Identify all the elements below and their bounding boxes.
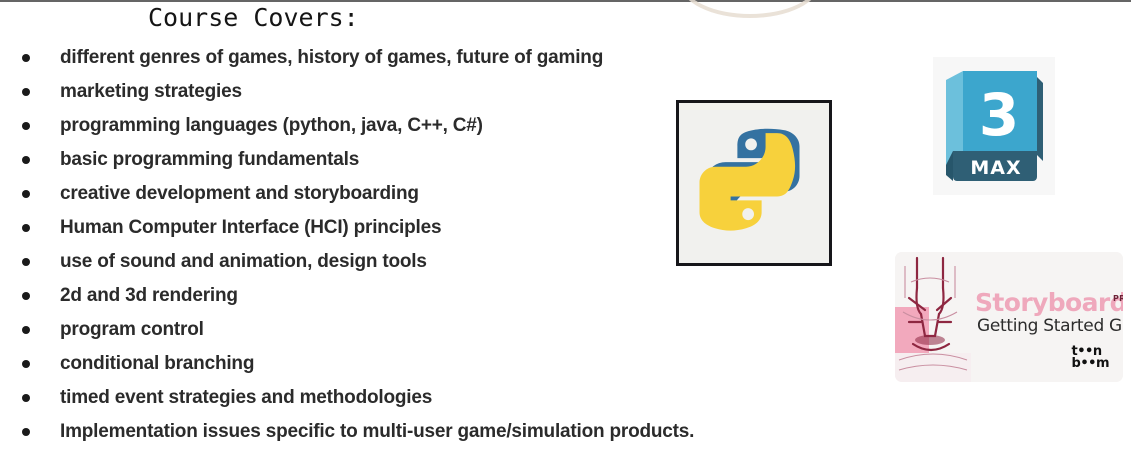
list-item-label: program control	[60, 319, 204, 340]
list-item-label: Human Computer Interface (HCI) principle…	[60, 217, 441, 238]
bullet-dot-icon	[22, 88, 30, 96]
list-item-label: 2d and 3d rendering	[60, 285, 238, 306]
bullet-dot-icon	[22, 122, 30, 130]
bullet-dot-icon	[22, 54, 30, 62]
bullet-dot-icon	[22, 394, 30, 402]
bullet-dot-icon	[22, 428, 30, 436]
toon-boom-line2: b••m	[1072, 358, 1109, 370]
list-item: conditional branching	[0, 347, 860, 381]
python-logo-image	[676, 100, 832, 266]
list-item-label: basic programming fundamentals	[60, 149, 359, 170]
max-digit-label: 3	[979, 81, 1019, 149]
slide-canvas: Course Covers: different genres of games…	[0, 0, 1131, 451]
autodesk-3ds-max-logo-image: 3 MAX	[933, 57, 1055, 195]
bullet-dot-icon	[22, 292, 30, 300]
list-item: 2d and 3d rendering	[0, 279, 860, 313]
top-divider-rule	[0, 0, 1131, 2]
page-title: Course Covers:	[148, 3, 359, 32]
storyboard-pro-guide-image: Storyboard PRO 22 Getting Started Guide …	[895, 252, 1123, 382]
bullet-dot-icon	[22, 360, 30, 368]
list-item: Implementation issues specific to multi-…	[0, 415, 860, 449]
toon-boom-logo: t••n b••m	[1072, 346, 1109, 370]
list-item: different genres of games, history of ga…	[0, 41, 860, 75]
list-item-label: use of sound and animation, design tools	[60, 251, 427, 272]
list-item-label: marketing strategies	[60, 81, 242, 102]
list-item-label: conditional branching	[60, 353, 254, 374]
max-wordmark-label: MAX	[970, 157, 1021, 179]
decorative-arc	[680, 0, 820, 18]
bullet-dot-icon	[22, 224, 30, 232]
python-logo-icon	[679, 103, 829, 263]
bullet-dot-icon	[22, 258, 30, 266]
storyboard-brand-label: Storyboard	[975, 288, 1123, 317]
3ds-max-logo-svg: 3 MAX	[933, 57, 1055, 195]
list-item-label: timed event strategies and methodologies	[60, 387, 432, 408]
list-item-label: different genres of games, history of ga…	[60, 47, 603, 68]
bullet-dot-icon	[22, 156, 30, 164]
bullet-dot-icon	[22, 326, 30, 334]
list-item-label: Implementation issues specific to multi-…	[60, 421, 694, 442]
list-item: timed event strategies and methodologies	[0, 381, 860, 415]
list-item-label: creative development and storyboarding	[60, 183, 419, 204]
python-logo-svg	[692, 121, 816, 245]
list-item: program control	[0, 313, 860, 347]
bullet-dot-icon	[22, 190, 30, 198]
list-item-label: programming languages (python, java, C++…	[60, 115, 483, 136]
storyboard-edition-label: PRO	[1113, 294, 1123, 303]
storyboard-subtitle-label: Getting Started Guide	[977, 316, 1123, 336]
